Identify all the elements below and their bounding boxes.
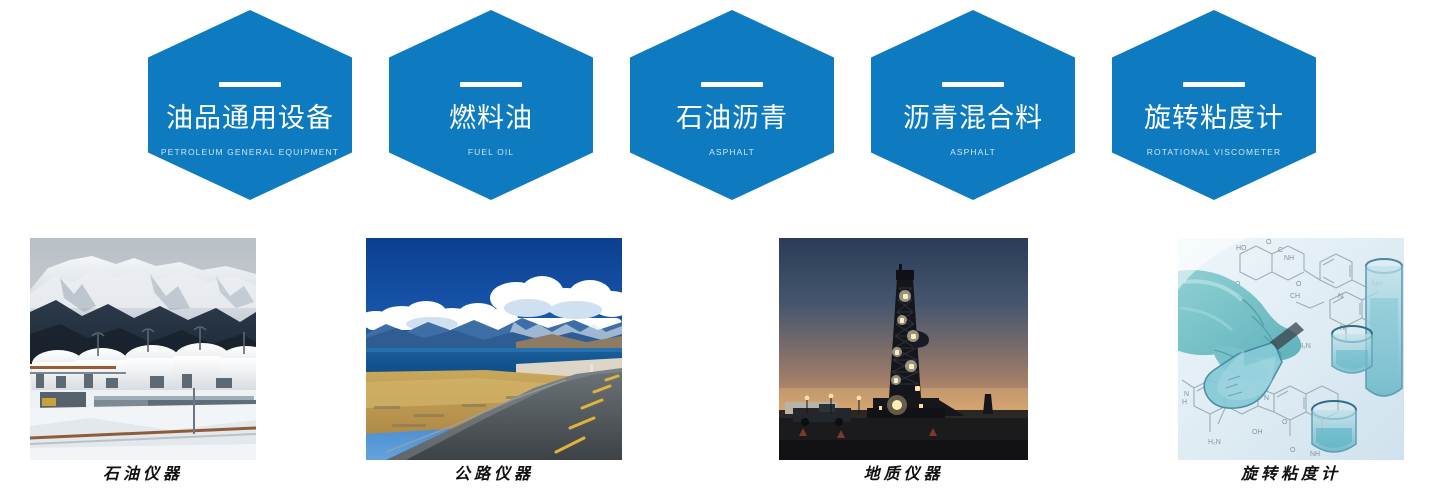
svg-text:NH: NH: [1310, 451, 1320, 458]
photo-row: HOOC NHHOO NHCHN NH₂N NH NO H₂NOH ONH: [0, 238, 1440, 460]
hexagon-subtitle: ROTATIONAL VISCOMETER: [1147, 146, 1281, 158]
hexagon-title: 沥青混合料: [903, 103, 1043, 133]
caption-highway-instruments: 公路仪器: [366, 462, 622, 486]
hexagon-title: 石油沥青: [676, 103, 788, 133]
svg-text:N: N: [1184, 391, 1189, 398]
hexagon-subtitle: FUEL OIL: [468, 146, 514, 158]
hexagon-title: 燃料油: [449, 103, 533, 133]
divider-dash-icon: [942, 82, 1004, 87]
hexagon-title: 旋转粘度计: [1144, 103, 1284, 133]
caption-row: 石油仪器 公路仪器 地质仪器 旋转粘度计: [0, 462, 1440, 500]
category-hexagon-asphalt[interactable]: 石油沥青 ASPHALT: [630, 10, 834, 200]
caption-petroleum-instruments: 石油仪器: [30, 462, 256, 486]
svg-text:NH: NH: [1284, 255, 1294, 262]
hexagon-subtitle: ASPHALT: [709, 146, 755, 158]
svg-text:CH: CH: [1290, 293, 1300, 300]
divider-dash-icon: [219, 82, 281, 87]
svg-text:N: N: [1338, 293, 1343, 300]
lab-glove-flask-chemistry-image: HOOC NHHOO NHCHN NH₂N NH NO H₂NOH ONH: [1178, 238, 1404, 460]
svg-text:HO: HO: [1236, 245, 1247, 252]
category-hexagon-row: 油品通用设备 PETROLEUM GENERAL EQUIPMENT 燃料油 F…: [0, 0, 1440, 215]
svg-text:OH: OH: [1252, 429, 1263, 436]
svg-text:C: C: [1278, 247, 1283, 254]
category-hexagon-petroleum-general-equipment[interactable]: 油品通用设备 PETROLEUM GENERAL EQUIPMENT: [148, 10, 352, 200]
svg-text:O: O: [1290, 447, 1296, 454]
caption-geological-instruments: 地质仪器: [779, 462, 1028, 486]
svg-text:H₂N: H₂N: [1208, 439, 1221, 446]
divider-dash-icon: [701, 82, 763, 87]
svg-text:N: N: [1264, 395, 1269, 402]
hexagon-subtitle: PETROLEUM GENERAL EQUIPMENT: [161, 146, 339, 158]
photo-highway-instruments[interactable]: [366, 238, 622, 460]
svg-text:H: H: [1182, 399, 1187, 406]
highway-lake-landscape-image: [366, 238, 622, 460]
divider-dash-icon: [1183, 82, 1245, 87]
category-hexagon-asphalt-mixture[interactable]: 沥青混合料 ASPHALT: [871, 10, 1075, 200]
category-hexagon-fuel-oil[interactable]: 燃料油 FUEL OIL: [389, 10, 593, 200]
photo-rotational-viscometer[interactable]: HOOC NHHOO NHCHN NH₂N NH NO H₂NOH ONH: [1178, 238, 1404, 460]
svg-text:O: O: [1266, 239, 1272, 246]
photo-geological-instruments[interactable]: [779, 238, 1028, 460]
caption-rotational-viscometer: 旋转粘度计: [1178, 462, 1404, 486]
photo-petroleum-instruments[interactable]: [30, 238, 256, 460]
oil-drilling-rig-dusk-image: [779, 238, 1028, 460]
svg-text:O: O: [1282, 419, 1288, 426]
divider-dash-icon: [460, 82, 522, 87]
svg-text:O: O: [1296, 281, 1302, 288]
category-hexagon-rotational-viscometer[interactable]: 旋转粘度计 ROTATIONAL VISCOMETER: [1112, 10, 1316, 200]
hexagon-subtitle: ASPHALT: [950, 146, 996, 158]
snow-mountain-tank-farm-image: [30, 238, 256, 460]
hexagon-title: 油品通用设备: [166, 103, 334, 133]
